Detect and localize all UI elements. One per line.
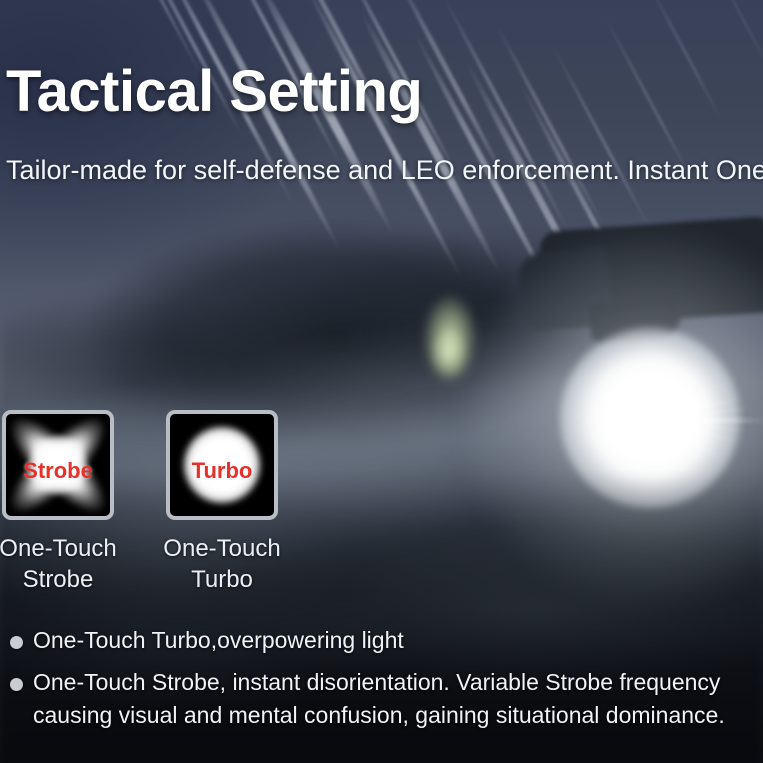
page-title: Tactical Setting	[6, 58, 422, 125]
feature-bullet-list: One-Touch Turbo,overpowering light One-T…	[4, 624, 761, 741]
turbo-badge-label: Turbo	[170, 458, 274, 484]
list-item: One-Touch Turbo,overpowering light	[4, 624, 761, 657]
bullet-text: One-Touch Turbo,overpowering light	[33, 627, 404, 653]
bullet-text: One-Touch Strobe, instant disorientation…	[33, 669, 725, 728]
strobe-badge-label: Strobe	[6, 458, 110, 484]
bullet-dot-icon	[10, 678, 23, 691]
list-item: One-Touch Strobe, instant disorientation…	[4, 666, 761, 732]
bullet-dot-icon	[10, 636, 23, 649]
tactical-setting-slide: Tactical Setting Tailor-made for self-de…	[0, 0, 763, 763]
page-subtitle: Tailor-made for self-defense and LEO enf…	[6, 150, 763, 190]
one-touch-turbo-icon-box[interactable]: Turbo	[166, 410, 278, 520]
one-touch-strobe-icon-box[interactable]: Strobe	[2, 410, 114, 520]
one-touch-turbo-caption: One-Touch Turbo	[102, 533, 342, 595]
